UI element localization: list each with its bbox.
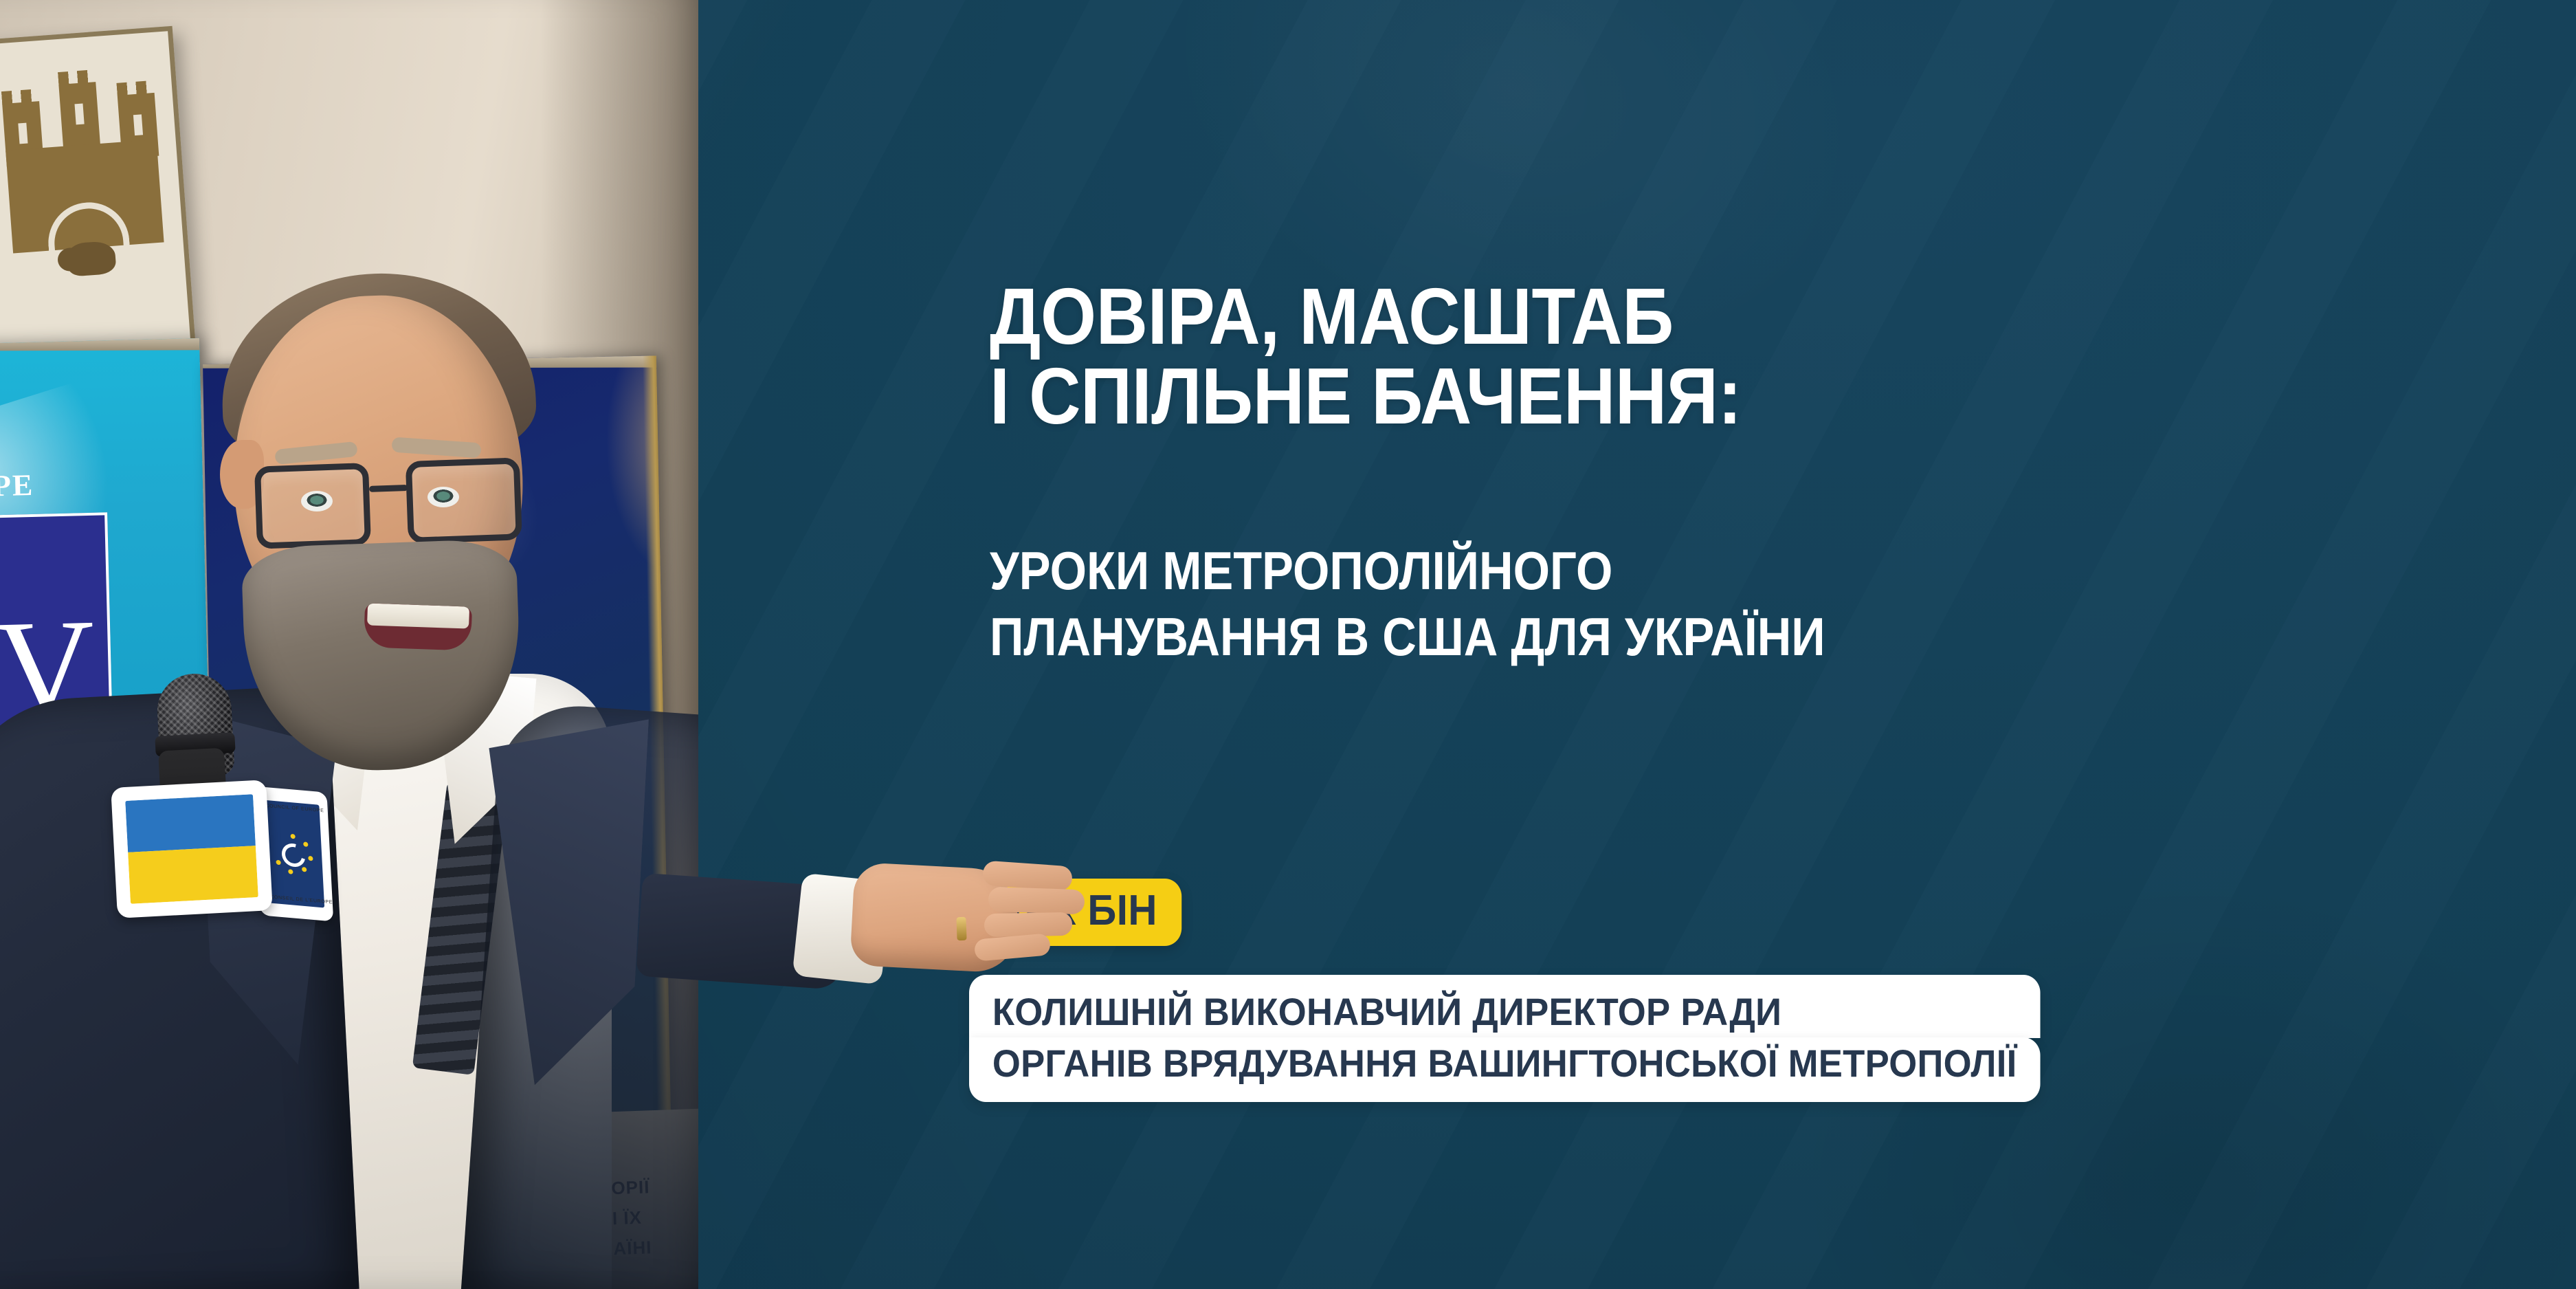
headline-line-2: І СПІЛЬНЕ БАЧЕННЯ: bbox=[990, 357, 1742, 434]
banner-canvas: ROPE V ROPE ДНИЙ ОРІЇ І ЇХ АЇНІ bbox=[0, 0, 2576, 1289]
speaker-title-line-1: КОЛИШНІЙ ВИКОНАВЧИЙ ДИРЕКТОР РАДИ bbox=[969, 975, 2040, 1038]
coe-logo-top-text: COUNCIL OF EUROPE bbox=[265, 804, 324, 813]
speaker-title-box: КОЛИШНІЙ ВИКОНАВЧИЙ ДИРЕКТОР РАДИ ОРГАНІ… bbox=[969, 975, 2109, 1102]
coe-stars-icon bbox=[272, 832, 314, 875]
ukraine-flag-icon bbox=[125, 794, 258, 904]
subheadline-line-2: ПЛАНУВАННЯ В США ДЛЯ УКРАЇНИ bbox=[990, 609, 1825, 664]
subheadline-line-1: УРОКИ МЕТРОПОЛІЙНОГО bbox=[990, 543, 1612, 598]
text-block: ДОВІРА, МАСШТАБ І СПІЛЬНЕ БАЧЕННЯ: УРОКИ… bbox=[990, 0, 2502, 1289]
speaker-photo: ROPE V ROPE ДНИЙ ОРІЇ І ЇХ АЇНІ bbox=[0, 0, 698, 1289]
finger-2 bbox=[988, 887, 1085, 915]
finger-3 bbox=[984, 912, 1073, 937]
eyeglasses-icon bbox=[254, 457, 522, 553]
speaker-title-line-2: ОРГАНІВ ВРЯДУВАННЯ ВАШИНГТОНСЬКОЇ МЕТРОП… bbox=[969, 1037, 2040, 1102]
open-hand-gesture bbox=[687, 811, 990, 1038]
speaker-figure: COUNCIL OF EUROPE CONSEIL DE L'EUROPE bbox=[0, 0, 698, 1289]
coe-logo-bottom-text: CONSEIL DE L'EUROPE bbox=[270, 895, 333, 905]
wedding-ring-icon bbox=[956, 917, 966, 940]
microphone-flag-ukraine bbox=[111, 780, 273, 918]
mouth bbox=[364, 603, 472, 650]
headline-line-1: ДОВІРА, МАСШТАБ bbox=[990, 278, 1674, 355]
